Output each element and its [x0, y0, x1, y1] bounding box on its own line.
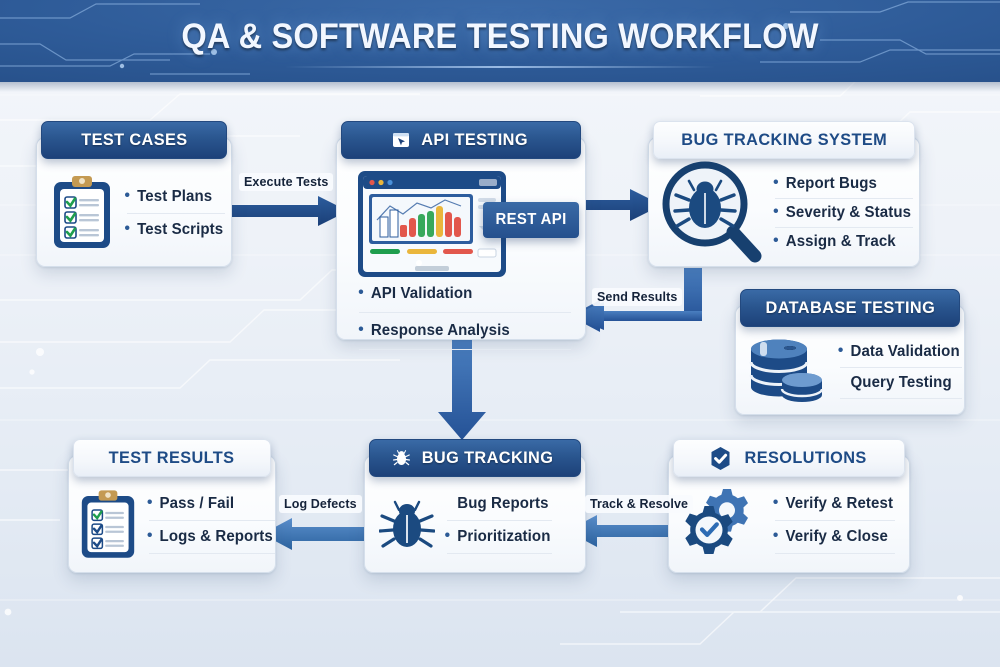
connector-label-log-defects: Log Defects: [279, 495, 362, 513]
magnifier-bug-icon: [657, 160, 765, 266]
bullet: Bug Reports: [445, 495, 551, 513]
title-underline: [285, 66, 715, 68]
database-cylinder-icon: [746, 335, 828, 407]
node-api-testing-header: API TESTING: [341, 121, 581, 159]
bullet: Query Testing: [838, 374, 960, 392]
divider: [359, 312, 571, 313]
node-database-testing-bullets: Data Validation Query Testing: [836, 343, 962, 400]
divider: [359, 349, 571, 350]
node-test-cases-bullets: Test Plans Test Scripts: [123, 188, 225, 239]
divider: [447, 520, 552, 521]
page-header: QA & SOFTWARE TESTING WORKFLOW: [0, 0, 1000, 82]
node-test-cases-title: TEST CASES: [81, 130, 187, 150]
clipboard-checklist-icon: [51, 174, 113, 252]
node-resolutions-header: RESOLUTIONS: [673, 439, 905, 477]
cursor-window-icon: [392, 131, 410, 149]
divider: [127, 213, 225, 214]
node-resolutions-title: RESOLUTIONS: [745, 448, 867, 468]
node-test-cases-body: Test Plans Test Scripts: [37, 164, 231, 266]
node-bug-tracking-body: Bug Reports Prioritization: [365, 482, 585, 572]
node-test-cases[interactable]: TEST CASES: [36, 137, 232, 267]
divider: [775, 198, 913, 199]
bullet: API Validation: [358, 285, 568, 303]
node-bug-tracking-system-bullets: Report Bugs Severity & Status Assign & T…: [771, 175, 913, 251]
node-test-results-header: TEST RESULTS: [73, 439, 271, 477]
diagram-canvas: QA & SOFTWARE TESTING WORKFLOW: [0, 0, 1000, 667]
node-database-testing-header: DATABASE TESTING: [740, 289, 960, 327]
bullet: Prioritization: [445, 528, 551, 546]
node-bug-tracking-system[interactable]: BUG TRACKING SYSTEM Report Bugs: [648, 137, 920, 267]
divider: [775, 553, 895, 554]
bullet: Test Plans: [125, 188, 224, 206]
node-api-testing-title: API TESTING: [421, 130, 528, 150]
node-bug-tracking-system-header: BUG TRACKING SYSTEM: [653, 121, 915, 159]
divider: [775, 520, 895, 521]
node-database-testing-body: Data Validation Query Testing: [736, 332, 964, 414]
node-bug-tracking-header: BUG TRACKING: [369, 439, 581, 477]
node-bug-tracking-system-title: BUG TRACKING SYSTEM: [681, 130, 887, 150]
divider: [840, 398, 962, 399]
rest-api-badge-label: REST API: [495, 211, 566, 229]
connector-log-defects: [262, 518, 366, 550]
node-database-testing-title: DATABASE TESTING: [765, 298, 935, 318]
node-api-testing[interactable]: API TESTING: [336, 137, 586, 340]
node-test-results-title: TEST RESULTS: [109, 448, 235, 468]
node-bug-tracking-title: BUG TRACKING: [422, 448, 554, 468]
clipboard-checklist-icon: [79, 488, 137, 562]
divider: [840, 367, 962, 368]
header-shadow: [0, 82, 1000, 92]
bullet: Report Bugs: [773, 175, 911, 193]
divider: [447, 553, 552, 554]
connector-label-execute-tests: Execute Tests: [239, 173, 333, 191]
bullet: Assign & Track: [773, 233, 911, 251]
node-resolutions-bullets: Verify & Retest Verify & Close: [771, 495, 895, 555]
check-badge-icon: [708, 446, 733, 471]
bug-icon: [379, 495, 435, 555]
bullet: Data Validation: [838, 343, 960, 361]
bullet: Logs & Reports: [147, 528, 273, 546]
bullet: Response Analysis: [358, 322, 568, 340]
node-test-cases-header: TEST CASES: [41, 121, 227, 159]
connector-execute-tests: [232, 196, 348, 226]
node-database-testing[interactable]: DATABASE TESTING: [735, 305, 965, 415]
node-test-results-bullets: Pass / Fail Logs & Reports: [145, 495, 275, 555]
bullet: Severity & Status: [773, 204, 911, 222]
bullet: Pass / Fail: [147, 495, 273, 513]
divider: [149, 553, 275, 554]
bullet: Test Scripts: [125, 221, 224, 239]
divider: [775, 227, 913, 228]
node-bug-tracking[interactable]: BUG TRACKING Bug Reports Prioritization: [364, 455, 586, 573]
node-resolutions-body: Verify & Retest Verify & Close: [669, 482, 909, 572]
node-resolutions[interactable]: RESOLUTIONS: [668, 455, 910, 573]
connector-to-bug-tracking: [438, 340, 486, 440]
node-test-results[interactable]: TEST RESULTS: [68, 455, 276, 573]
page-title: QA & SOFTWARE TESTING WORKFLOW: [35, 17, 965, 57]
bullet: Verify & Retest: [773, 495, 893, 513]
node-api-testing-bullets: API Validation Response Analysis: [355, 285, 571, 351]
divider: [149, 520, 275, 521]
node-bug-tracking-system-body: Report Bugs Severity & Status Assign & T…: [649, 164, 919, 266]
rest-api-badge: REST API: [483, 202, 579, 238]
bug-icon: [393, 449, 410, 467]
connector-label-send-results: Send Results: [592, 288, 682, 306]
connector-label-track-resolve: Track & Resolve: [585, 495, 693, 513]
node-test-results-body: Pass / Fail Logs & Reports: [69, 482, 275, 572]
bullet: Verify & Close: [773, 528, 893, 546]
node-bug-tracking-bullets: Bug Reports Prioritization: [443, 495, 552, 555]
